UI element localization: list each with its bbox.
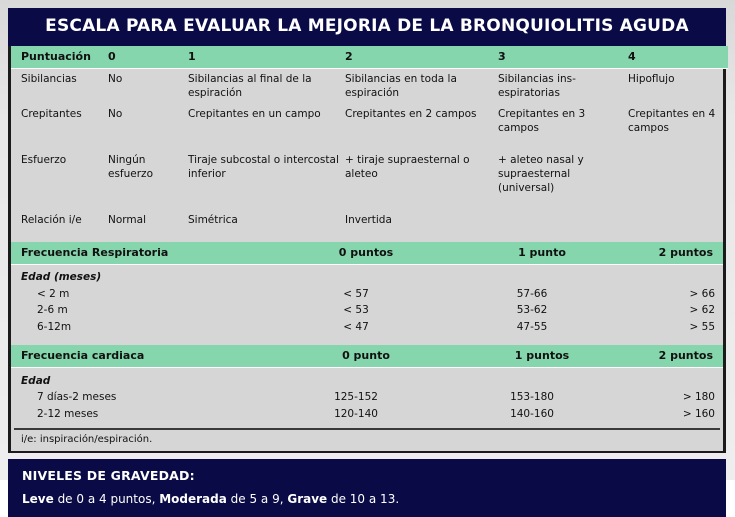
cell-score-0: No <box>108 104 188 140</box>
cell-score-2: Invertida <box>345 210 498 232</box>
value-points-1: 140-160 <box>446 406 618 423</box>
severity-moderada-range: de 5 a 9, <box>227 492 288 506</box>
cell-score-0: Ningún esfuerzo <box>108 150 188 200</box>
severity-moderada-label: Moderada <box>159 492 227 506</box>
cardiac-points-0: 0 punto <box>276 349 456 362</box>
value-points-0: < 53 <box>266 303 446 320</box>
age-label: 6-12m <box>11 319 266 336</box>
row-label: Relación i/e <box>11 210 108 232</box>
cardiac-rate-table: Edad 7 días-2 meses 125-152 153-180 > 18… <box>11 368 728 428</box>
value-points-1: 153-180 <box>446 390 618 407</box>
cell-score-1: Crepitantes en un campo <box>188 104 345 140</box>
table-row: < 2 m < 57 57-66 > 66 <box>11 286 728 303</box>
table-row: 2-6 m < 53 53-62 > 62 <box>11 303 728 320</box>
header-score-4: 4 <box>628 46 728 69</box>
cell-score-4 <box>628 150 728 200</box>
row-spacer <box>11 336 728 345</box>
age-label: 7 días-2 meses <box>11 390 266 407</box>
cell-score-3: + aleteo nasal y supraesternal (universa… <box>498 150 628 200</box>
value-points-0: 125-152 <box>266 390 446 407</box>
severity-levels-title: NIVELES DE GRAVEDAD: <box>22 468 712 483</box>
header-score-2: 2 <box>345 46 498 69</box>
value-points-0: 120-140 <box>266 406 446 423</box>
header-score-3: 3 <box>498 46 628 69</box>
respiratory-rate-band: Frecuencia Respiratoria 0 puntos 1 punto… <box>11 242 723 265</box>
value-points-1: 53-62 <box>446 303 618 320</box>
respiratory-points-2: 2 puntos <box>628 246 713 259</box>
cell-score-2: Crepitantes en 2 campos <box>345 104 498 140</box>
value-points-1: 57-66 <box>446 286 618 303</box>
table-row: Relación i/e Normal Simétrica Invertida <box>11 210 728 232</box>
cell-score-1: Tiraje subcostal o intercostal inferior <box>188 150 345 200</box>
cell-score-0: Normal <box>108 210 188 232</box>
cardiac-points-1: 1 puntos <box>456 349 628 362</box>
cell-score-2: Sibilancias en toda la espiración <box>345 68 498 104</box>
cell-score-4: Crepitantes en 4 campos <box>628 104 728 140</box>
header-score-1: 1 <box>188 46 345 69</box>
cardiac-rate-band: Frecuencia cardiaca 0 punto 1 puntos 2 p… <box>11 345 723 368</box>
age-label: 2-12 meses <box>11 406 266 423</box>
cell-score-4 <box>628 210 728 232</box>
severity-leve-label: Leve <box>22 492 54 506</box>
cardiac-rate-label: Frecuencia cardiaca <box>21 349 276 362</box>
table-row: Crepitantes No Crepitantes en un campo C… <box>11 104 728 140</box>
table-row: 7 días-2 meses 125-152 153-180 > 180 <box>11 390 728 407</box>
table-row: Sibilancias No Sibilancias al final de l… <box>11 68 728 104</box>
cell-score-3 <box>498 210 628 232</box>
cell-score-0: No <box>108 68 188 104</box>
value-points-2: > 180 <box>618 390 728 407</box>
cell-score-2: + tiraje supraesternal o aleteo <box>345 150 498 200</box>
scale-table-frame: Puntuación 0 1 2 3 4 Sibilancias No Sibi… <box>8 46 726 453</box>
row-label: Sibilancias <box>11 68 108 104</box>
row-spacer <box>11 200 728 210</box>
value-points-2: > 62 <box>618 303 728 320</box>
severity-leve-range: de 0 a 4 puntos, <box>54 492 159 506</box>
row-label: Crepitantes <box>11 104 108 140</box>
severity-grave-range: de 10 a 13. <box>327 492 399 506</box>
severity-levels-panel: NIVELES DE GRAVEDAD: Leve de 0 a 4 punto… <box>8 459 726 517</box>
value-points-2: > 55 <box>618 319 728 336</box>
row-spacer <box>11 232 728 242</box>
age-label: 2-6 m <box>11 303 266 320</box>
table-row: Esfuerzo Ningún esfuerzo Tiraje subcosta… <box>11 150 728 200</box>
footnote: i/e: inspiración/espiración. <box>11 430 723 451</box>
cell-score-3: Crepitantes en 3 campos <box>498 104 628 140</box>
respiratory-points-0: 0 puntos <box>276 246 456 259</box>
respiratory-group-label: Edad (meses) <box>11 270 728 287</box>
value-points-2: > 66 <box>618 286 728 303</box>
cell-score-3: Sibilancias ins-espiratorias <box>498 68 628 104</box>
scale-document: ESCALA PARA EVALUAR LA MEJORIA DE LA BRO… <box>0 0 735 480</box>
value-points-0: < 57 <box>266 286 446 303</box>
cell-score-1: Simétrica <box>188 210 345 232</box>
severity-levels-text: Leve de 0 a 4 puntos, Moderada de 5 a 9,… <box>22 492 712 506</box>
respiratory-rate-label: Frecuencia Respiratoria <box>21 246 276 259</box>
row-label: Esfuerzo <box>11 150 108 200</box>
row-spacer <box>11 140 728 150</box>
value-points-2: > 160 <box>618 406 728 423</box>
table-row: 6-12m < 47 47-55 > 55 <box>11 319 728 336</box>
group-label-row: Edad <box>11 373 728 390</box>
table-row: 2-12 meses 120-140 140-160 > 160 <box>11 406 728 423</box>
cell-score-4: Hipoflujo <box>628 68 728 104</box>
score-table: Puntuación 0 1 2 3 4 Sibilancias No Sibi… <box>11 46 728 242</box>
cell-score-1: Sibilancias al final de la espiración <box>188 68 345 104</box>
value-points-0: < 47 <box>266 319 446 336</box>
score-table-header-row: Puntuación 0 1 2 3 4 <box>11 46 728 69</box>
age-label: < 2 m <box>11 286 266 303</box>
respiratory-points-1: 1 punto <box>456 246 628 259</box>
group-label-row: Edad (meses) <box>11 270 728 287</box>
severity-grave-label: Grave <box>287 492 327 506</box>
value-points-1: 47-55 <box>446 319 618 336</box>
cardiac-points-2: 2 puntos <box>628 349 713 362</box>
page-title: ESCALA PARA EVALUAR LA MEJORIA DE LA BRO… <box>8 8 726 46</box>
header-score-0: 0 <box>108 46 188 69</box>
cardiac-group-label: Edad <box>11 373 728 390</box>
header-puntuacion: Puntuación <box>11 46 108 69</box>
respiratory-rate-table: Edad (meses) < 2 m < 57 57-66 > 66 2-6 m… <box>11 265 728 346</box>
